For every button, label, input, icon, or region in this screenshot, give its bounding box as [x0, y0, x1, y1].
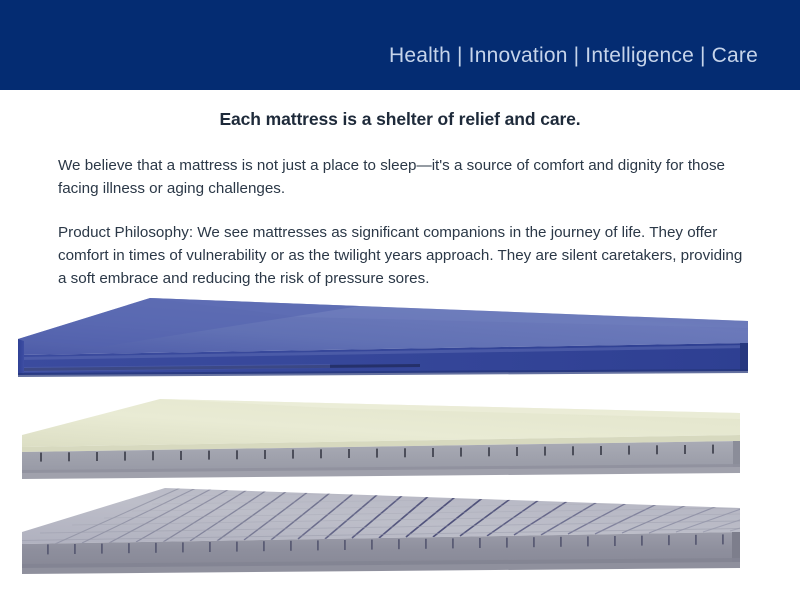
cream-foam-mattress-graphic: [0, 391, 800, 481]
gray-channel-foam-mattress-image: [0, 482, 800, 577]
page-title: Each mattress is a shelter of relief and…: [0, 90, 800, 130]
cream-foam-mattress-image: [0, 391, 800, 481]
blue-vinyl-mattress-image: [0, 295, 800, 390]
main-content: Each mattress is a shelter of relief and…: [0, 90, 800, 290]
mattress-image-stack: [0, 295, 800, 580]
header-tagline: Health | Innovation | Intelligence | Car…: [389, 44, 758, 68]
product-philosophy-paragraph: Product Philosophy: We see mattresses as…: [0, 221, 800, 290]
blue-vinyl-mattress-graphic: [0, 295, 800, 390]
gray-channel-foam-mattress-graphic: [0, 482, 800, 577]
intro-paragraph: We believe that a mattress is not just a…: [0, 154, 800, 200]
header-band: Health | Innovation | Intelligence | Car…: [0, 0, 800, 90]
